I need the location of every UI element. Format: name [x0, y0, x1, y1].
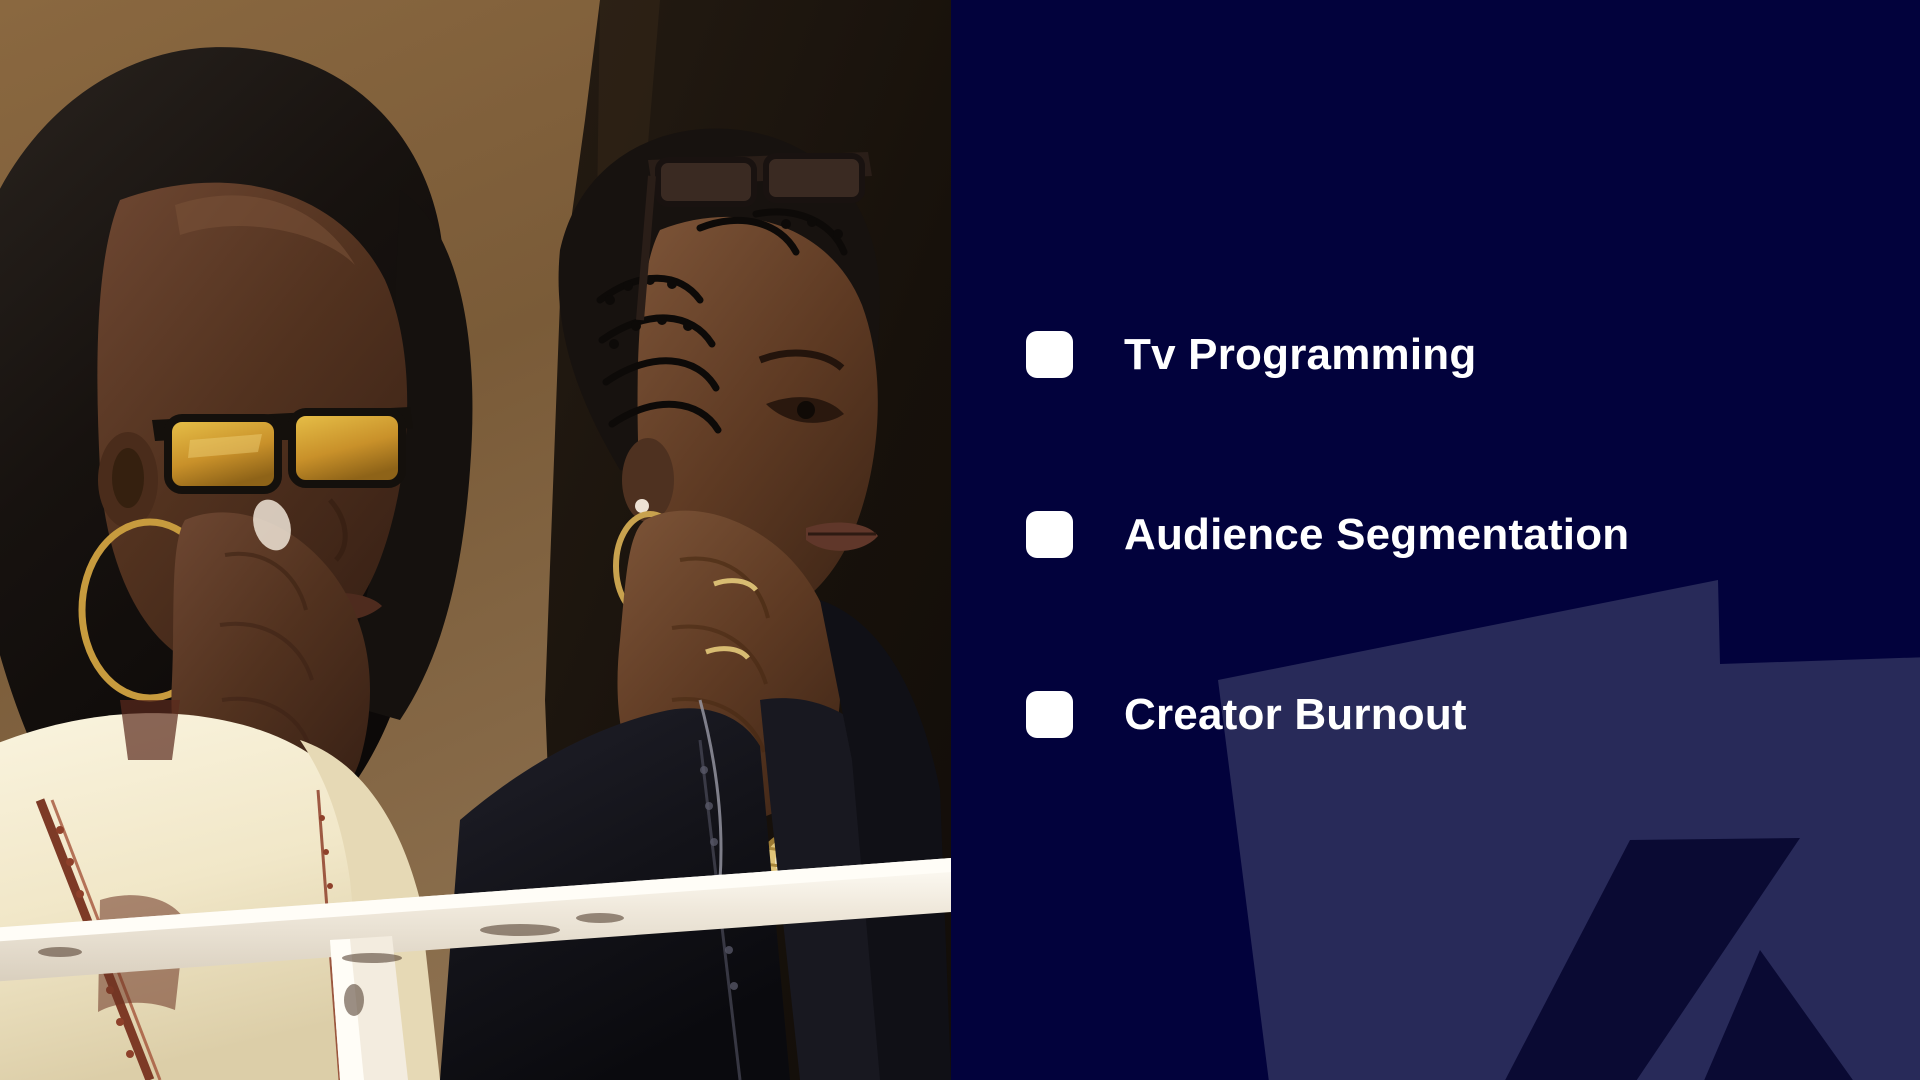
photo-illustration: [0, 0, 951, 1080]
slide-content-panel: Tv Programming Audience Segmentation Cre…: [951, 0, 1920, 1080]
square-bullet-icon: [1026, 331, 1073, 378]
bullet-item-tv-programming[interactable]: Tv Programming: [1026, 331, 1846, 378]
slide-photo: [0, 0, 951, 1080]
presentation-slide: Tv Programming Audience Segmentation Cre…: [0, 0, 1920, 1080]
square-bullet-icon: [1026, 691, 1073, 738]
square-bullet-icon: [1026, 511, 1073, 558]
bullet-item-creator-burnout[interactable]: Creator Burnout: [1026, 691, 1846, 738]
bullet-label-creator-burnout: Creator Burnout: [1124, 691, 1467, 738]
bullet-label-tv-programming: Tv Programming: [1124, 331, 1476, 378]
bullet-item-audience-segmentation[interactable]: Audience Segmentation: [1026, 511, 1846, 558]
bullet-label-audience-segmentation: Audience Segmentation: [1124, 511, 1629, 558]
bullet-list: Tv Programming Audience Segmentation Cre…: [1026, 331, 1846, 738]
